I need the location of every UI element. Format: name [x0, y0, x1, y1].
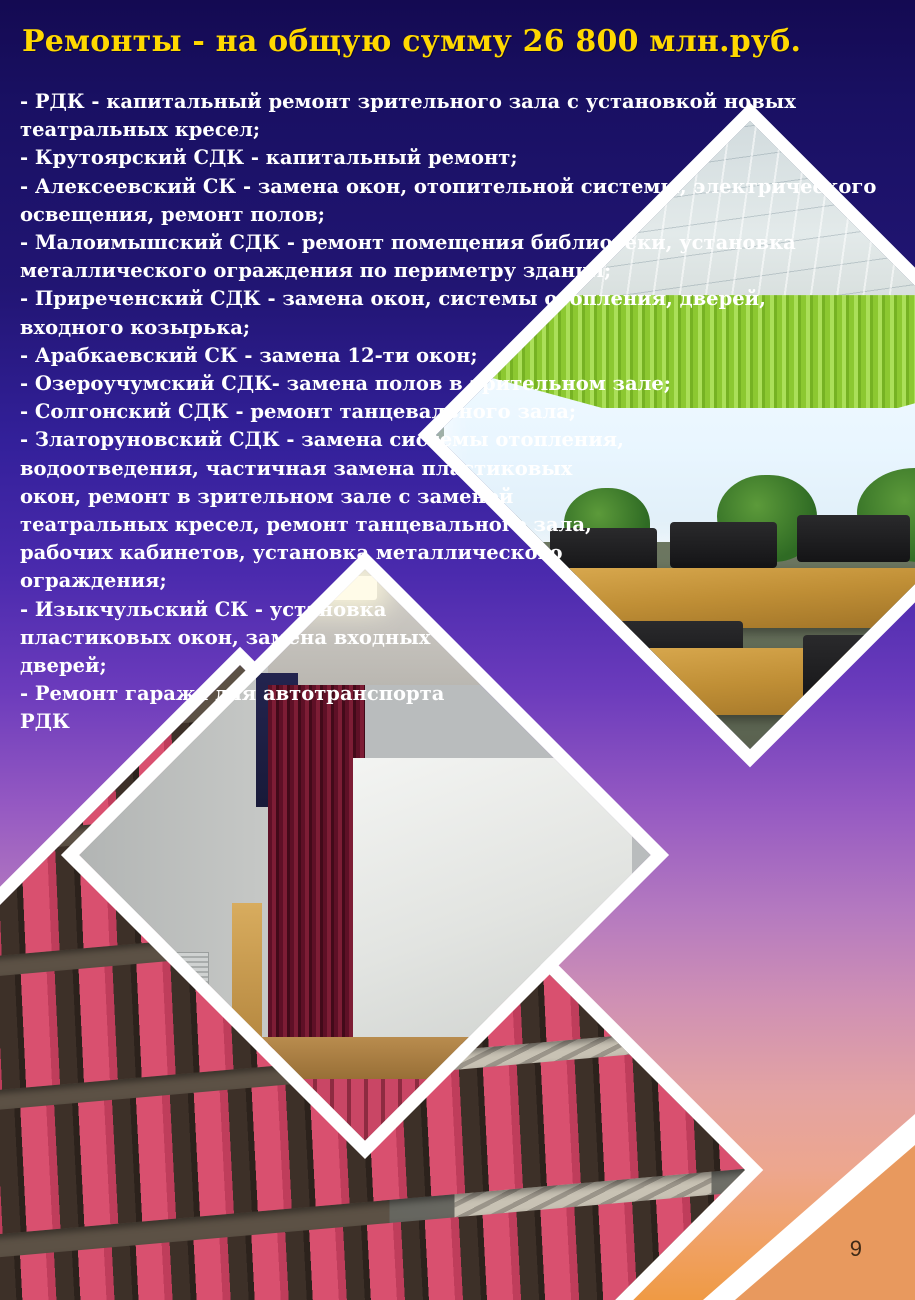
page-number: 9	[850, 1236, 862, 1262]
repairs-list-line: - Озероучумский СДК- замена полов в зрит…	[20, 370, 900, 398]
hall-red-curtain	[268, 685, 365, 1049]
repairs-list-line: водоотведения, частичная замена пластико…	[20, 455, 900, 483]
corner-accent-orange	[735, 1145, 915, 1300]
repairs-list-line: металлического ограждения по периметру з…	[20, 257, 900, 285]
page-title: Ремонты - на общую сумму 26 800 млн.руб.	[22, 24, 801, 59]
repairs-list-line: театральных кресел;	[20, 116, 900, 144]
repairs-list-line: РДК	[20, 708, 900, 736]
repairs-list-line: пластиковых окон, замена входных	[20, 624, 900, 652]
repairs-list-line: - Солгонский СДК - ремонт танцевального …	[20, 398, 900, 426]
repairs-list-line: окон, ремонт в зрительном зале с заменой	[20, 483, 900, 511]
repairs-list-line: - Приреченский СДК - замена окон, систем…	[20, 285, 900, 313]
repairs-list-line: освещения, ремонт полов;	[20, 201, 900, 229]
repairs-list-line: входного козырька;	[20, 314, 900, 342]
repairs-list-line: рабочих кабинетов, установка металлическ…	[20, 539, 900, 567]
repairs-list: - РДК - капитальный ремонт зрительного з…	[20, 88, 900, 737]
repairs-list-line: - Крутоярский СДК - капитальный ремонт;	[20, 144, 900, 172]
repairs-list-line: - Арабкаевский СК - замена 12-ти окон;	[20, 342, 900, 370]
repairs-list-line: - Малоимышский СДК - ремонт помещения би…	[20, 229, 900, 257]
repairs-list-line: - Алексеевский СК - замена окон, отопите…	[20, 173, 900, 201]
repairs-list-line: - Изыкчульский СК - установка	[20, 596, 900, 624]
repairs-list-line: театральных кресел, ремонт танцевального…	[20, 511, 900, 539]
slide-canvas: Ремонты - на общую сумму 26 800 млн.руб.…	[0, 0, 915, 1300]
repairs-list-line: - Ремонт гаража для автотранспорта	[20, 680, 900, 708]
repairs-list-line: дверей;	[20, 652, 900, 680]
repairs-list-line: - Златоруновский СДК - замена системы от…	[20, 426, 900, 454]
repairs-list-line: - РДК - капитальный ремонт зрительного з…	[20, 88, 900, 116]
repairs-list-line: ограждения;	[20, 567, 900, 595]
